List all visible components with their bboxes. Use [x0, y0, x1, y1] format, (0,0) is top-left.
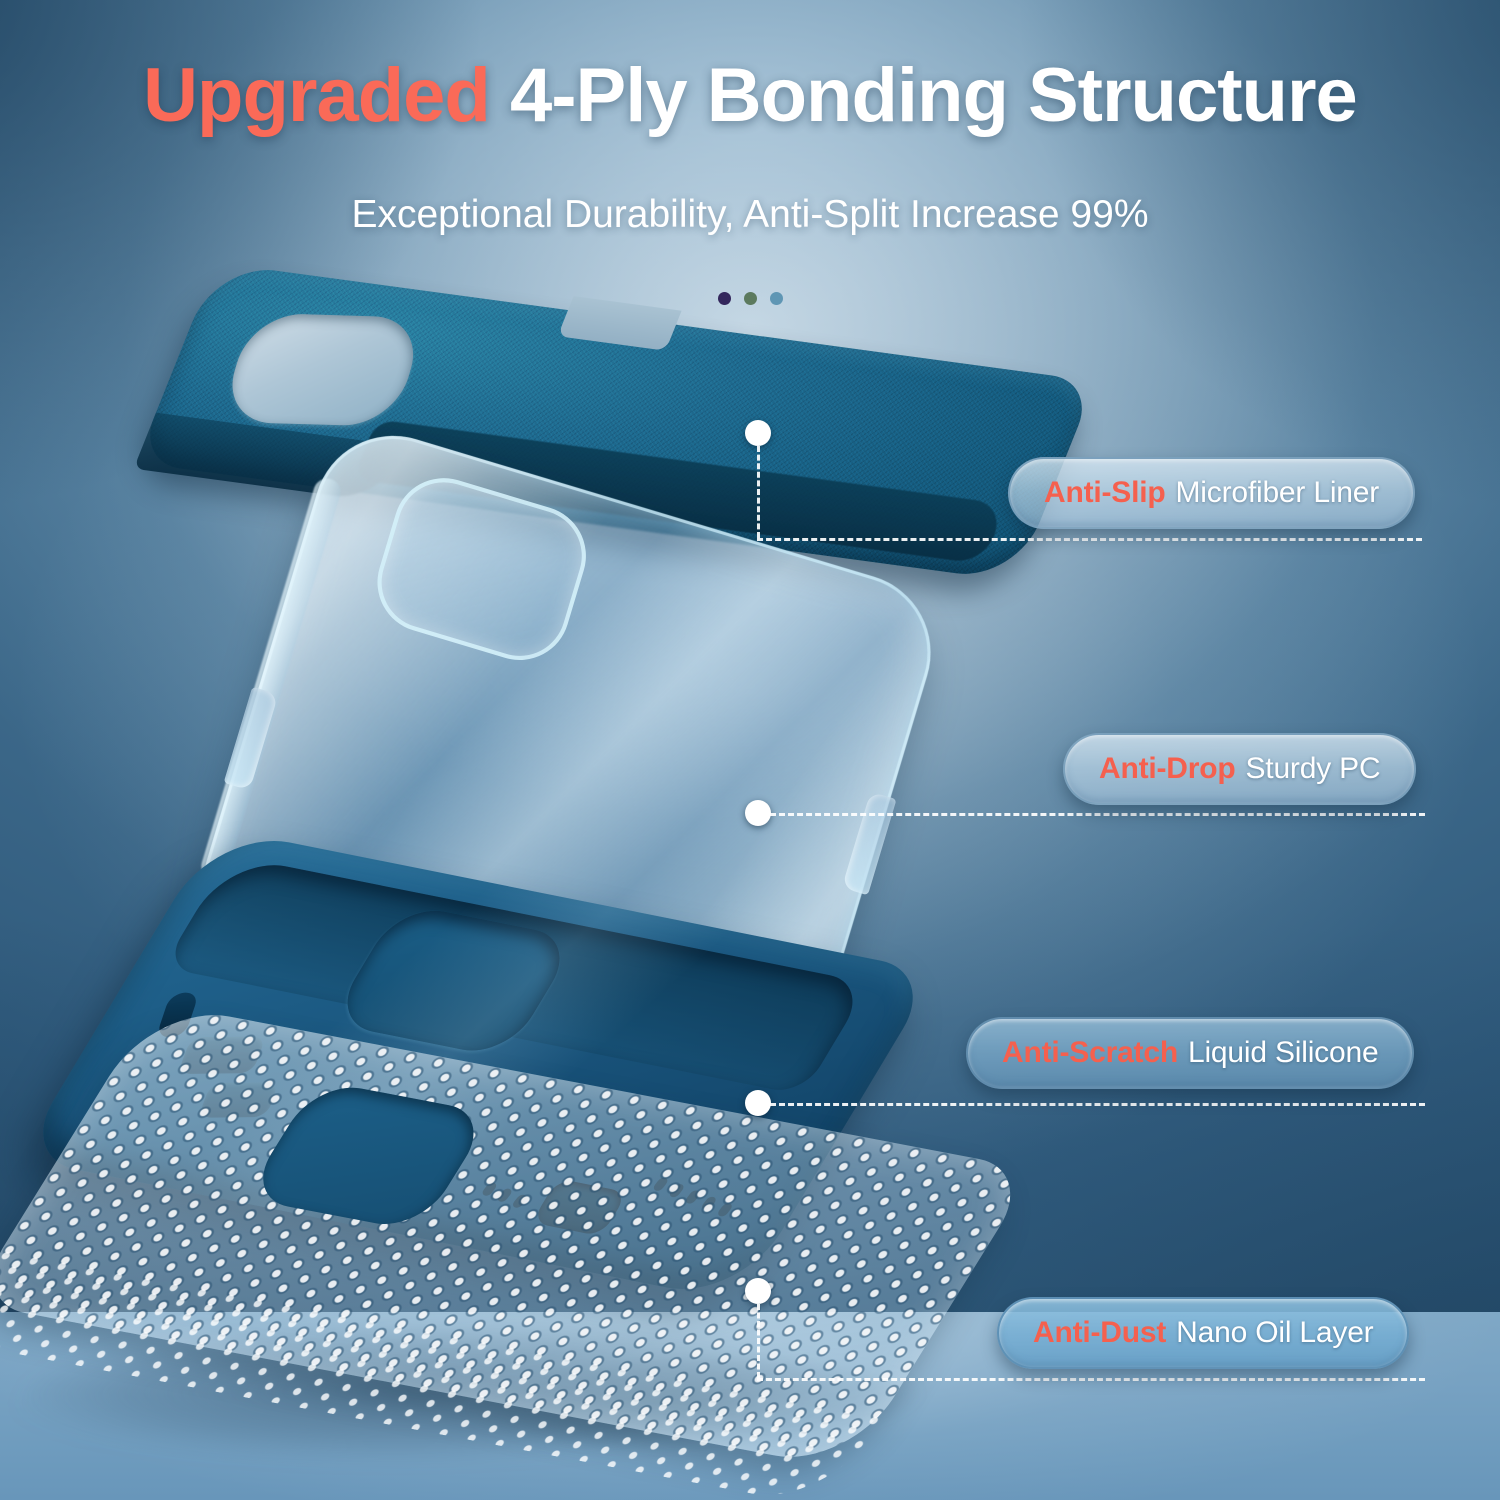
callout-hline-anti-scratch: [770, 1103, 1425, 1106]
callout-dot-anti-dust: [745, 1278, 771, 1304]
callout-dot-anti-scratch: [745, 1090, 771, 1116]
label-anti-drop-suffix: Sturdy PC: [1246, 752, 1381, 786]
callout-vline-anti-slip: [757, 446, 760, 538]
label-anti-scratch-prefix: Anti-Scratch: [1002, 1036, 1178, 1070]
label-anti-dust-suffix: Nano Oil Layer: [1176, 1316, 1373, 1350]
callout-hline-anti-slip: [757, 538, 1422, 541]
product-infographic: Upgraded 4-Ply Bonding Structure Excepti…: [0, 0, 1500, 1500]
layer-nano-oil-honeycomb: [0, 1002, 1035, 1469]
callout-hline-anti-dust: [757, 1378, 1425, 1381]
label-anti-slip-prefix: Anti-Slip: [1044, 476, 1166, 510]
label-anti-scratch[interactable]: Anti-Scratch Liquid Silicone: [966, 1017, 1414, 1089]
callout-dot-anti-slip: [745, 420, 771, 446]
label-anti-slip[interactable]: Anti-Slip Microfiber Liner: [1008, 457, 1415, 529]
label-anti-dust-prefix: Anti-Dust: [1033, 1316, 1166, 1350]
label-anti-dust[interactable]: Anti-Dust Nano Oil Layer: [997, 1297, 1409, 1369]
label-anti-drop-prefix: Anti-Drop: [1099, 752, 1236, 786]
label-anti-scratch-suffix: Liquid Silicone: [1188, 1036, 1378, 1070]
callout-dot-anti-drop: [745, 800, 771, 826]
callout-vline-anti-dust: [757, 1304, 760, 1378]
label-anti-slip-suffix: Microfiber Liner: [1176, 476, 1380, 510]
label-anti-drop[interactable]: Anti-Drop Sturdy PC: [1063, 733, 1416, 805]
callout-hline-anti-drop: [770, 813, 1425, 816]
